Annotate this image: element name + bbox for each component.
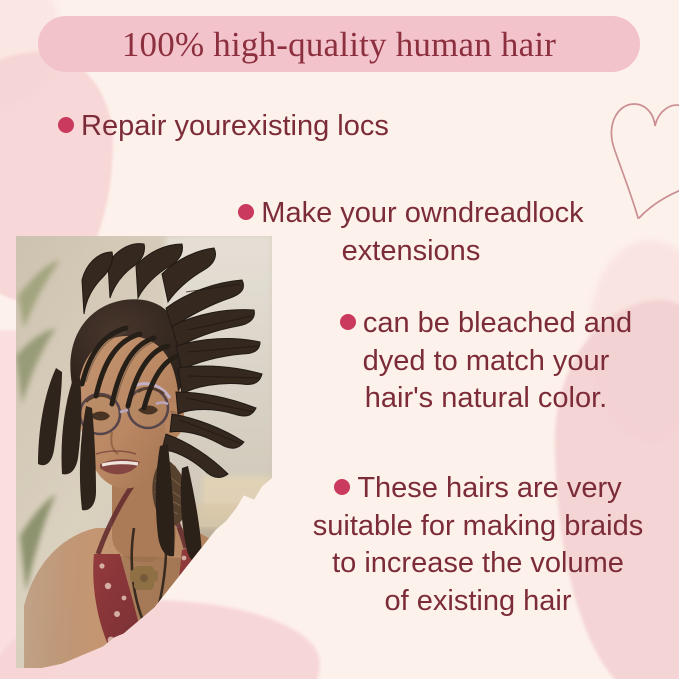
bullet-line: Make your owndreadlock	[261, 197, 583, 229]
bullet-line: to increase the volume	[282, 545, 674, 583]
bullet-line: dyed to match your	[300, 343, 672, 381]
bullet-line: of existing hair	[282, 583, 674, 621]
bullet-item-bleach-dye: can be bleached and dyed to match your h…	[300, 305, 672, 418]
model-photo	[16, 236, 272, 668]
bullet-line: Repair yourexisting locs	[81, 110, 389, 142]
bullet-line: suitable for making braids	[282, 508, 674, 546]
bullet-dot-icon	[238, 204, 254, 220]
bullet-item-braids-volume: These hairs are very suitable for making…	[282, 470, 674, 621]
header-banner: 100% high-quality human hair	[38, 16, 640, 72]
bullet-line: hair's natural color.	[300, 380, 672, 418]
bullet-line: can be bleached and	[363, 307, 632, 339]
header-title: 100% high-quality human hair	[122, 27, 556, 62]
bullet-line: These hairs are very	[357, 472, 621, 504]
bullet-dot-icon	[58, 117, 74, 133]
bullet-dot-icon	[334, 479, 350, 495]
bullet-dot-icon	[340, 314, 356, 330]
bullet-item-repair-locs: Repair yourexisting locs	[58, 108, 528, 146]
bullet-line: extensions	[196, 233, 626, 271]
bullet-item-make-extensions: Make your owndreadlock extensions	[196, 195, 626, 270]
poster-canvas: 100% high-quality human hair	[0, 0, 679, 679]
